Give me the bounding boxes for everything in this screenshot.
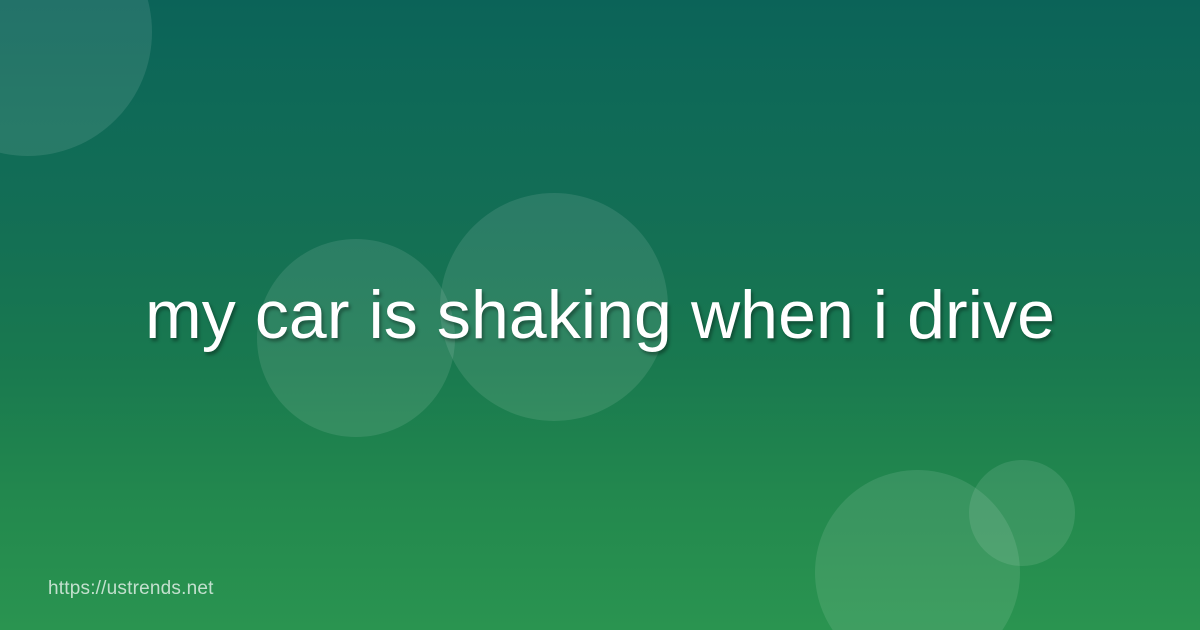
site-url-label: https://ustrends.net (48, 578, 214, 600)
headline-container: my car is shaking when i drive (0, 0, 1200, 630)
page-title: my car is shaking when i drive (145, 277, 1055, 353)
open-graph-card: my car is shaking when i drive https://u… (0, 0, 1200, 630)
